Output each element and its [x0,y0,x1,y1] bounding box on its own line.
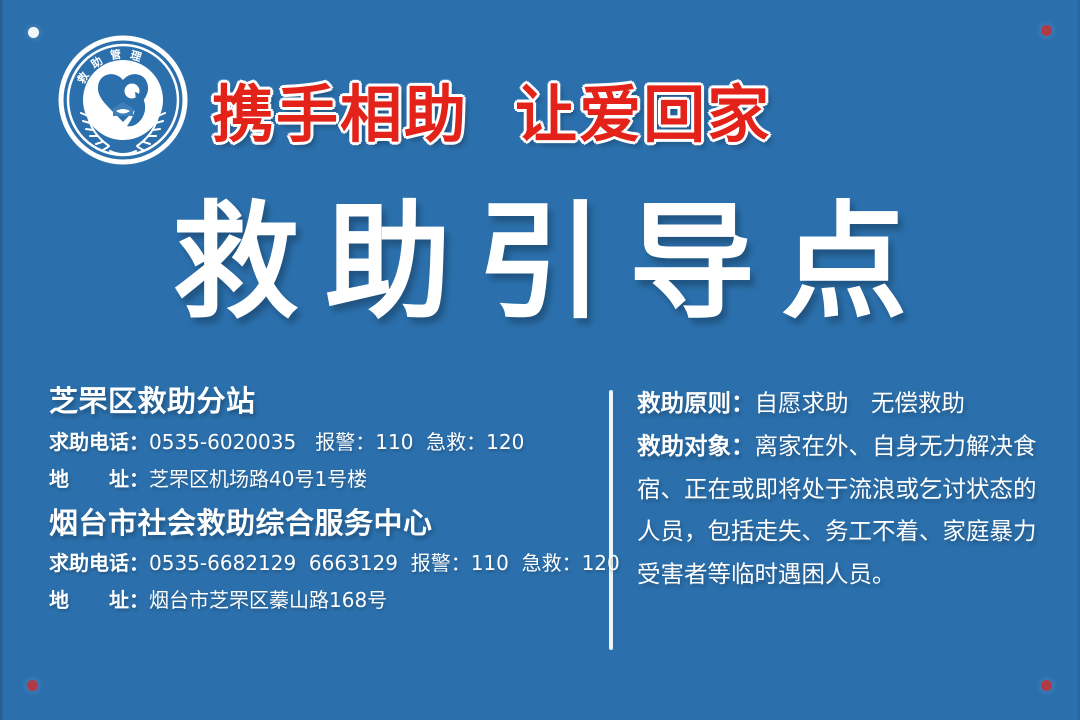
station-phone-line: 求助电话：0535-6682129 6663129 报警：110 急救：120 [49,545,599,582]
address-value: 芝罘区机场路40号1号楼 [149,467,367,491]
station-block-2: 烟台市社会救助综合服务中心 求助电话：0535-6682129 6663129 … [49,502,599,620]
phone-value: 0535-6020035 报警：110 急救：120 [149,430,524,454]
address-value: 烟台市芝罘区蓁山路168号 [149,588,387,612]
station-address-line: 地 址：芝罘区机场路40号1号楼 [49,461,599,498]
column-divider [609,390,613,650]
screw-dot-bottom-left [27,680,38,691]
station-block-1: 芝罘区救助分站 求助电话：0535-6020035 报警：110 急救：120 … [49,380,599,498]
contact-column: 芝罘区救助分站 求助电话：0535-6020035 报警：110 急救：120 … [49,380,599,623]
target-line: 救助对象：离家在外、自身无力解决食宿、正在或即将处于流浪或乞讨状态的人员，包括走… [637,425,1047,596]
phone-label: 求助电话： [49,430,149,454]
slogan-text: 携手相助 让爱回家 [212,84,912,146]
address-label: 地 址： [49,467,149,491]
phone-label: 求助电话： [49,551,149,575]
page-title: 救助引导点 [0,186,1080,340]
rescue-administration-emblem-icon: 救 助 管 理 [57,34,189,166]
address-label: 地 址： [49,588,149,612]
station-name: 烟台市社会救助综合服务中心 [49,502,599,546]
screw-dot-bottom-right [1041,680,1052,691]
principle-value: 自愿求助 无偿救助 [755,389,965,417]
station-name: 芝罘区救助分站 [49,380,599,424]
principle-line: 救助原则：自愿求助 无偿救助 [637,382,1047,425]
policy-column: 救助原则：自愿求助 无偿救助 救助对象：离家在外、自身无力解决食宿、正在或即将处… [637,382,1047,596]
rescue-guidance-signboard: 救 助 管 理 携手相助 让爱回家 救助引导点 芝罘区救助分站 求助电话：053… [0,0,1080,720]
station-address-line: 地 址：烟台市芝罘区蓁山路168号 [49,582,599,619]
principle-label: 救助原则： [637,389,755,417]
phone-value: 0535-6682129 6663129 报警：110 急救：120 [149,551,620,575]
header-band: 救 助 管 理 携手相助 让爱回家 [0,34,1080,166]
station-phone-line: 求助电话：0535-6020035 报警：110 急救：120 [49,424,599,461]
target-label: 救助对象： [637,432,755,460]
